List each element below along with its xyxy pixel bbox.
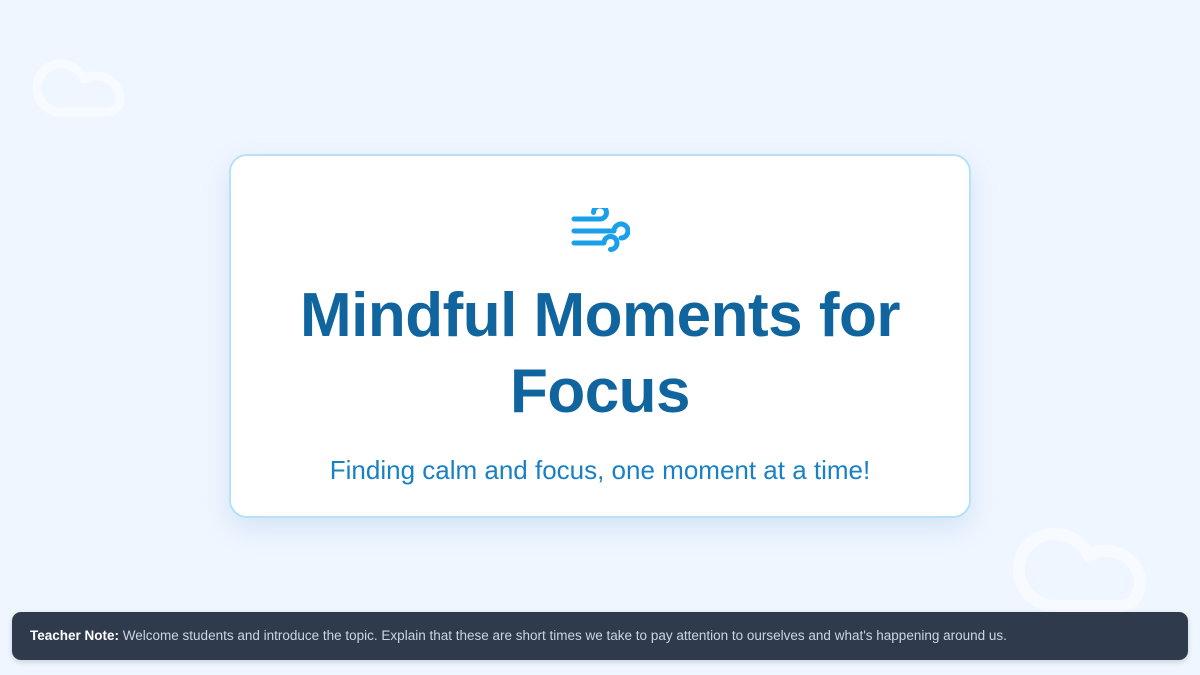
slide-card: Mindful Moments for Focus Finding calm a…: [229, 154, 971, 518]
page-title: Mindful Moments for Focus: [280, 278, 920, 430]
page-subtitle: Finding calm and focus, one moment at a …: [330, 454, 871, 486]
wind-icon: [567, 206, 633, 256]
teacher-note-text: Teacher Note: Welcome students and intro…: [30, 627, 1007, 645]
teacher-note-body: Welcome students and introduce the topic…: [119, 628, 1007, 643]
cloud-icon-bottom-right: [1012, 512, 1172, 616]
cloud-icon-top-left: [32, 48, 144, 120]
teacher-note-bar: Teacher Note: Welcome students and intro…: [12, 612, 1188, 660]
teacher-note-label: Teacher Note:: [30, 628, 119, 643]
